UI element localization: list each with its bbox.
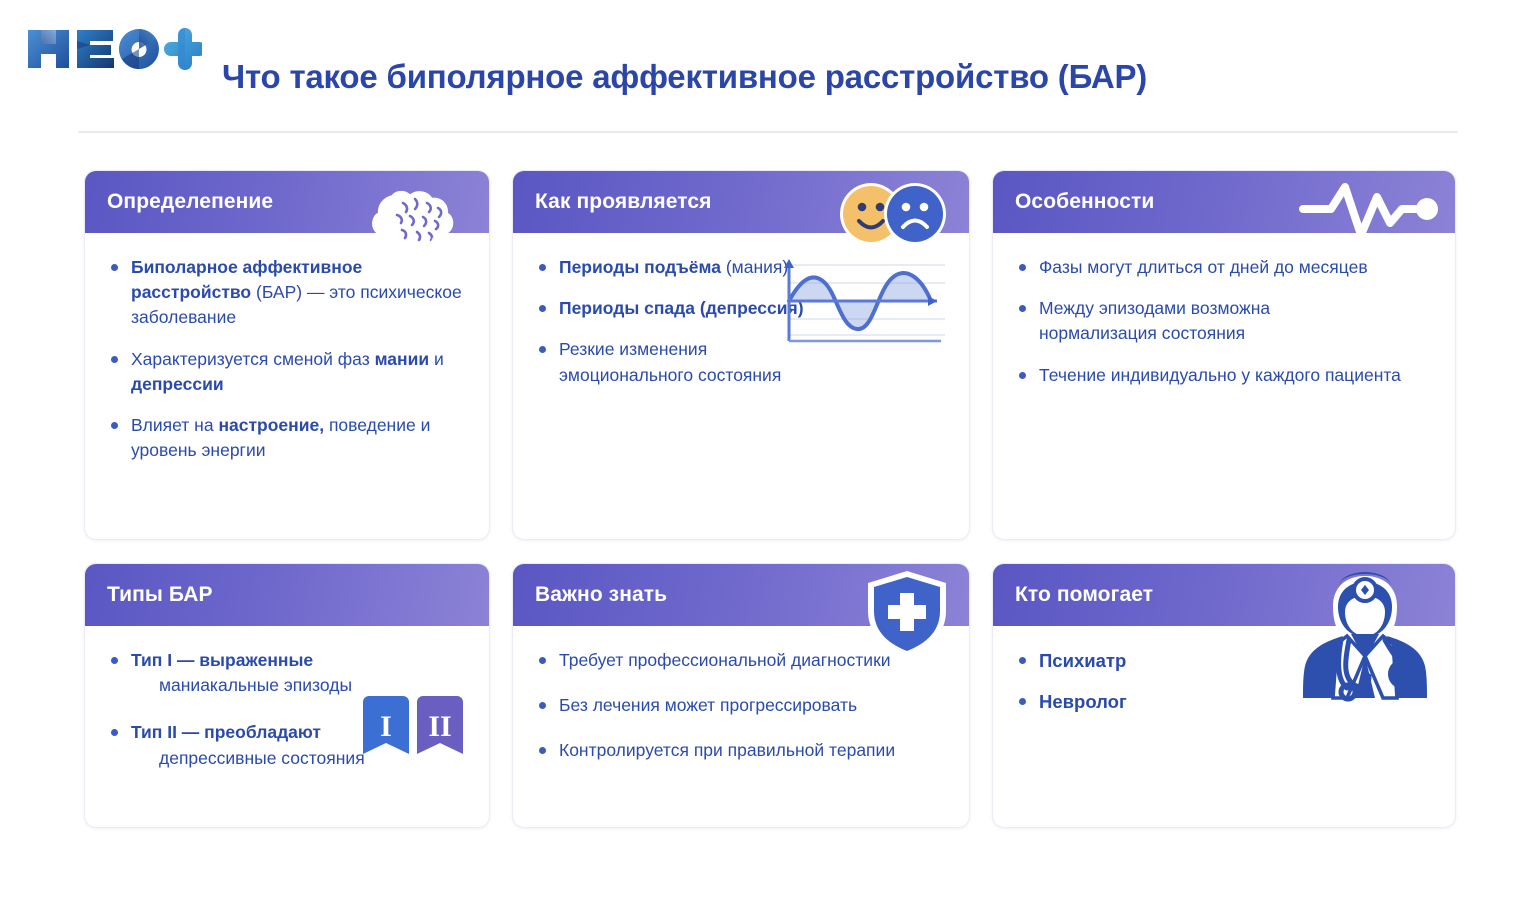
card-title-types: Типы БАР [107, 583, 213, 607]
bullet-bold-text: мании [375, 349, 430, 369]
card-body-features: Фазы могут длиться от дней до месяцев Ме… [993, 233, 1455, 406]
card-title-important: Важно знать [535, 583, 667, 607]
list-item: Течение индивидуально у каждого пациента [1015, 363, 1433, 388]
bullet-list-who-helps: Психиатр Невролог [1015, 648, 1433, 715]
bullet-bold-text: Психиатр [1039, 650, 1126, 671]
bullet-bold-text: Тип I — выраженные [131, 650, 313, 670]
bullet-text: Контролируется при правильной терапии [559, 740, 895, 760]
list-item: Психиатр [1015, 648, 1433, 675]
card-important: Важно знать Требует профессиональной диа… [512, 563, 970, 828]
mood-wave-chart-svg [765, 249, 951, 349]
list-item: Биполарное аффективное расстройство (БАР… [107, 255, 467, 331]
bullet-list-definition: Биполарное аффективное расстройство (БАР… [107, 255, 467, 463]
bullet-text: Влияет на [131, 415, 218, 435]
card-body-definition: Биполарное аффективное расстройство (БАР… [85, 233, 489, 481]
list-item: Тип I — выраженные маниакальные эпизоды [107, 648, 467, 698]
bullet-text: Характеризуется сменой фаз [131, 349, 375, 369]
card-body-who-helps: Психиатр Невролог [993, 626, 1455, 733]
neo-plus-logo[interactable] [22, 22, 202, 76]
list-item: Невролог [1015, 689, 1433, 716]
card-title-manifestation: Как проявляется [535, 190, 711, 214]
badge-label-two: II [428, 710, 451, 743]
bullet-text: и [429, 349, 444, 369]
card-body-manifestation: Периоды подъёма (мания) Периоды спада (д… [513, 233, 969, 406]
bullet-bold-text: Тип II — преобладают [131, 722, 321, 742]
card-features: Особенности Фазы могут длиться от дней д… [992, 170, 1456, 540]
bullet-text: Фазы могут длиться от дней до месяцев [1039, 257, 1368, 277]
page-header: Что такое биполярное аффективное расстро… [0, 0, 1536, 132]
card-header-features: Особенности [993, 171, 1455, 233]
card-title-definition: Определепение [107, 190, 273, 214]
list-item: Без лечения может прогрессировать [535, 693, 947, 718]
bullet-text: Резкие изменения эмоционального состояни… [559, 339, 781, 384]
card-manifestation: Как проявляется Период [512, 170, 970, 540]
card-header-types: Типы БАР [85, 564, 489, 626]
card-body-types: Тип I — выраженные маниакальные эпизоды … [85, 626, 489, 789]
card-header-important: Важно знать [513, 564, 969, 626]
type-badges-icon: I II [359, 694, 467, 771]
card-grid: Определепение [84, 170, 1456, 828]
card-header-who-helps: Кто помогает [993, 564, 1455, 626]
card-types: Типы БАР Тип I — выраженные маниакальные… [84, 563, 490, 828]
bullet-bold-text: Невролог [1039, 691, 1127, 712]
list-item: Фазы могут длиться от дней до месяцев [1015, 255, 1433, 280]
bullet-list-important: Требует профессиональной диагностики Без… [535, 648, 947, 764]
card-header-definition: Определепение [85, 171, 489, 233]
card-body-important: Требует профессиональной диагностики Без… [513, 626, 969, 782]
list-item: Контролируется при правильной терапии [535, 738, 947, 763]
bullet-text: Между эпизодами возможна нормализация со… [1039, 298, 1270, 343]
list-item: Между эпизодами возможна нормализация со… [1015, 296, 1315, 346]
list-item: Резкие изменения эмоционального состояни… [535, 337, 795, 387]
card-header-manifestation: Как проявляется [513, 171, 969, 233]
card-title-features: Особенности [1015, 190, 1154, 214]
list-item: Требует профессиональной диагностики [535, 648, 947, 673]
mood-wave-chart [765, 249, 951, 354]
bullet-text: Течение индивидуально у каждого пациента [1039, 365, 1401, 385]
card-title-who-helps: Кто помогает [1015, 583, 1153, 607]
list-item: Характеризуется сменой фаз мании и депре… [107, 347, 467, 397]
bullet-bold-text: настроение, [218, 415, 324, 435]
bullet-text: Без лечения может прогрессировать [559, 695, 857, 715]
logo-icon [22, 22, 202, 76]
bullet-text: Требует профессиональной диагностики [559, 650, 891, 670]
bullet-bold-text: Периоды подъёма [559, 257, 721, 277]
header-divider [78, 131, 1458, 133]
card-who-helps: Кто помогает [992, 563, 1456, 828]
badge-label-one: I [380, 710, 392, 743]
bullet-list-features: Фазы могут длиться от дней до месяцев Ме… [1015, 255, 1433, 388]
bullet-bold-text: депрессии [131, 374, 224, 394]
card-definition: Определепение [84, 170, 490, 540]
page-title: Что такое биполярное аффективное расстро… [222, 58, 1147, 96]
list-item: Влияет на настроение, поведение и уровен… [107, 413, 467, 463]
